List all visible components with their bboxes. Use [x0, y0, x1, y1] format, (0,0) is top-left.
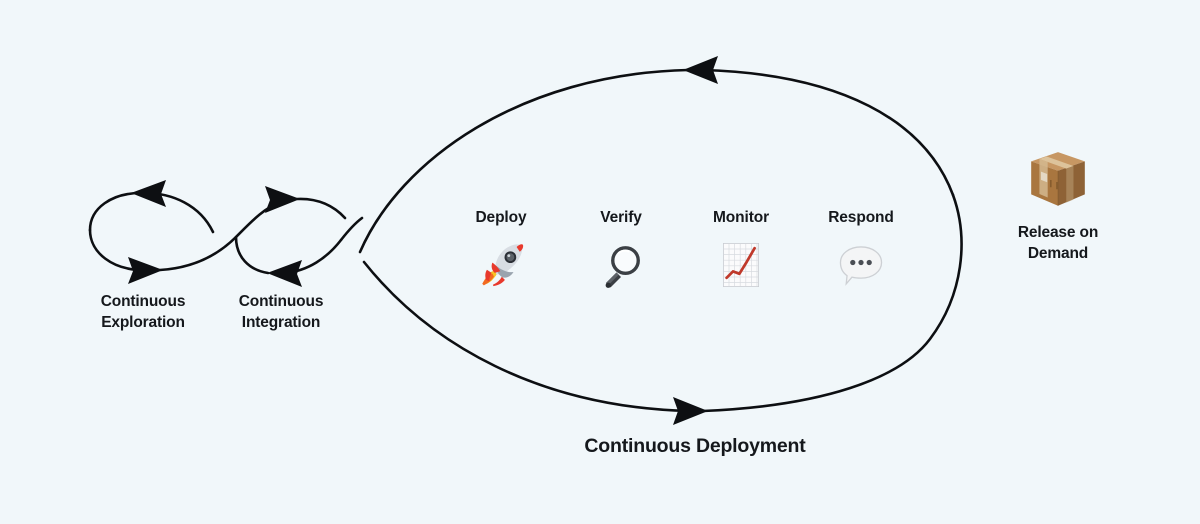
stage-verify-label: Verify [561, 209, 681, 228]
cd-loop-upper-right [703, 70, 953, 195]
speech-balloon-icon [801, 239, 921, 291]
stage-monitor-label: Monitor [681, 209, 801, 228]
cd-top-arrowhead [683, 56, 718, 84]
stage-monitor[interactable]: Monitor [681, 209, 801, 291]
diagram-canvas: Continuous Exploration Continuous Integr… [0, 0, 1200, 524]
continuous-deployment-label: Continuous Deployment [535, 434, 855, 460]
release-on-demand-label: Release on Demand [993, 223, 1123, 264]
stage-deploy-label: Deploy [441, 209, 561, 228]
ci-top-arrowhead [265, 186, 300, 213]
release-on-demand[interactable]: Release on Demand [993, 146, 1123, 264]
ce-top-arrowhead [131, 180, 166, 207]
stage-respond[interactable]: Respond [801, 209, 921, 291]
magnifying-glass-icon [561, 239, 681, 291]
stage-verify[interactable]: Verify [561, 209, 681, 291]
stage-respond-label: Respond [801, 209, 921, 228]
stage-deploy[interactable]: Deploy [441, 209, 561, 291]
ci-loop-lower-left-arc [236, 237, 268, 273]
ci-loop-upper-right-arc [297, 199, 345, 218]
continuous-integration-label: Continuous Integration [200, 292, 362, 333]
ce-loop-lower-arc [160, 237, 236, 270]
chart-increasing-icon [681, 239, 801, 291]
ce-bottom-arrowhead [128, 257, 163, 284]
cd-bottom-arrowhead [673, 397, 708, 425]
ci-bottom-arrowhead [267, 260, 302, 287]
ci-to-cd-strand [341, 218, 362, 240]
rocket-icon [441, 239, 561, 291]
ce-loop-upper-left-arc [90, 193, 141, 230]
package-box-icon [993, 146, 1123, 214]
